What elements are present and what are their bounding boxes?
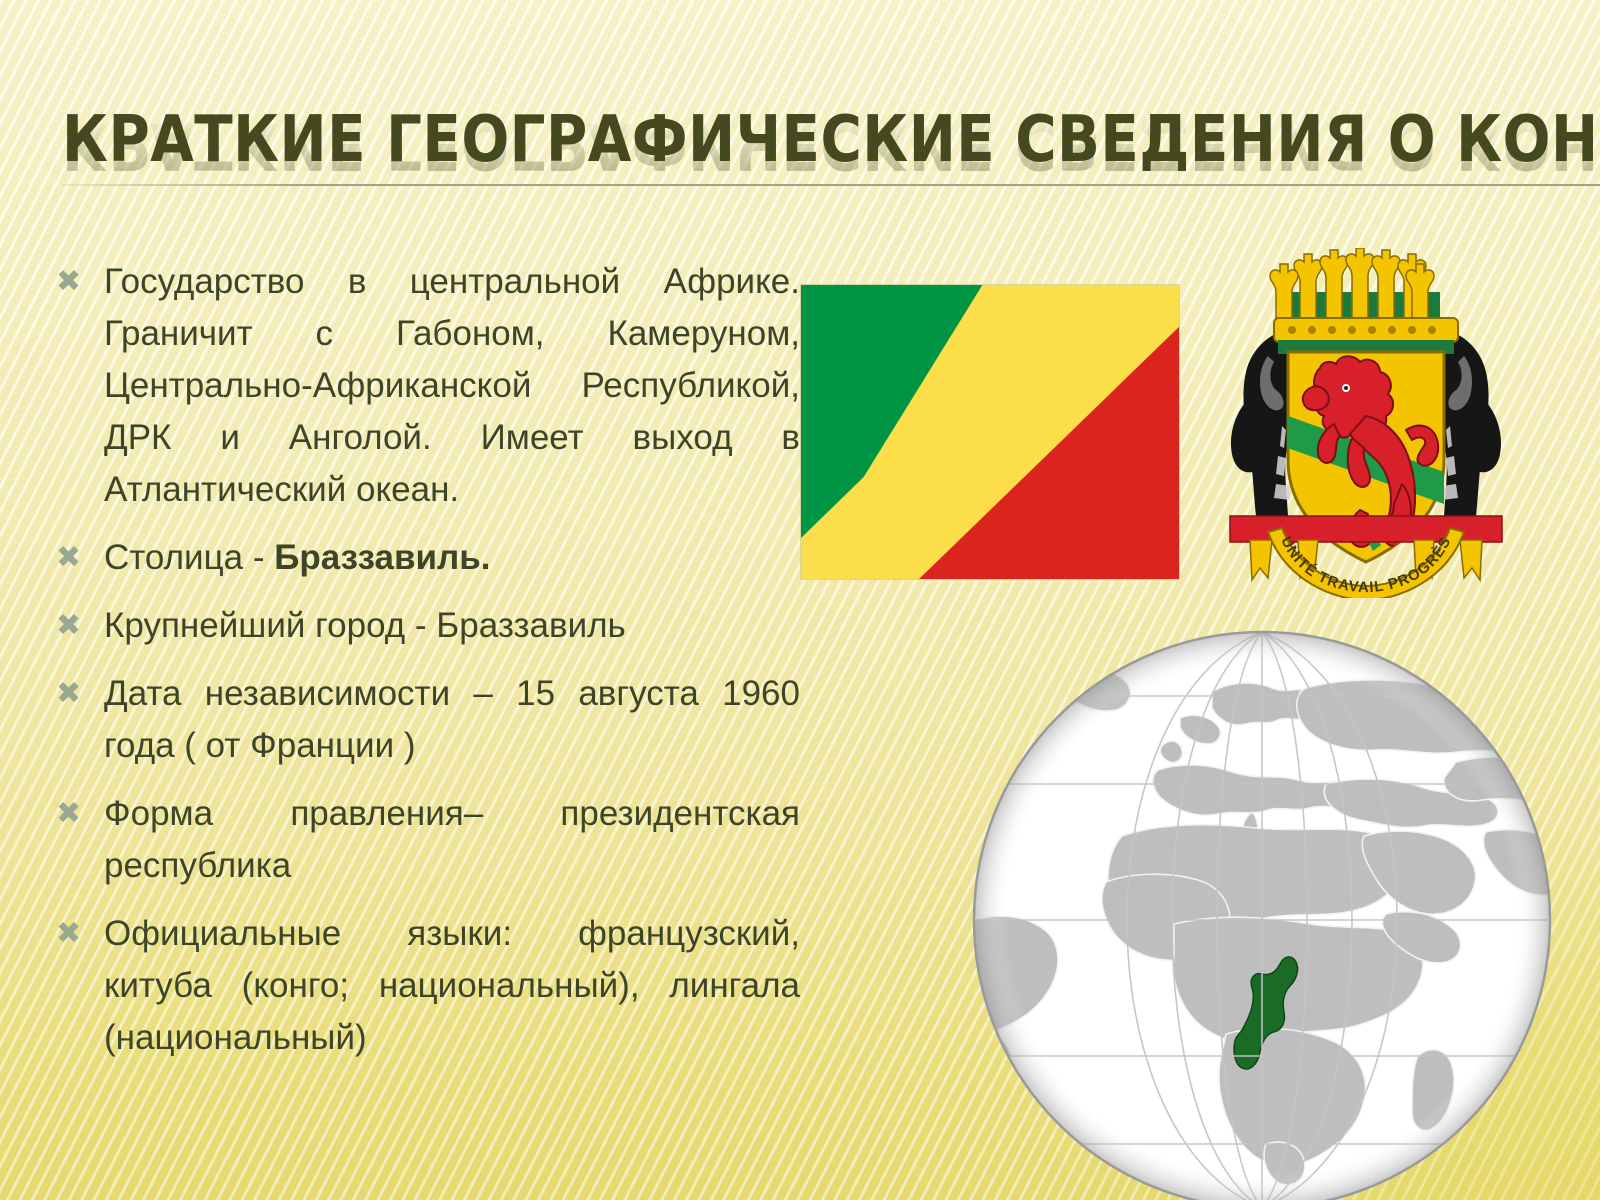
bullet-text-government: Форма правления– президентская республик… — [104, 788, 800, 892]
cross-bullet-icon: ✖ — [48, 668, 104, 720]
bullet-text-independence: Дата независимости – 15 августа 1960 год… — [104, 668, 800, 772]
list-item: ✖ Официальные языки: французский, китуба… — [48, 908, 800, 1064]
list-item: ✖ Государство в центральной Африке. Гран… — [48, 256, 800, 516]
bullet-text-capital: Столица - Браззавиль. — [104, 532, 800, 584]
bullet-text-largest-city: Крупнейший город - Браззавиль — [104, 600, 800, 652]
cross-bullet-icon: ✖ — [48, 256, 104, 308]
capital-label: Столица - — [104, 538, 274, 577]
congo-flag-image — [800, 284, 1180, 580]
crown-shape — [1270, 248, 1458, 354]
cross-bullet-icon: ✖ — [48, 532, 104, 584]
bullet-list: ✖ Государство в центральной Африке. Гран… — [48, 256, 800, 1080]
list-item: ✖ Форма правления– президентская республ… — [48, 788, 800, 892]
list-item: ✖ Крупнейший город - Браззавиль — [48, 600, 800, 652]
slide-title-area: Краткие географические сведения о Конго … — [0, 108, 1600, 258]
title-underline-rule — [62, 184, 1600, 186]
page-title: Краткие географические сведения о Конго — [62, 108, 1600, 172]
bullet-text-languages: Официальные языки: французский, китуба (… — [104, 908, 800, 1064]
cross-bullet-icon: ✖ — [48, 600, 104, 652]
cross-bullet-icon: ✖ — [48, 908, 104, 960]
list-item: ✖ Столица - Браззавиль. — [48, 532, 800, 584]
slide-congo-geography: Краткие географические сведения о Конго … — [0, 0, 1600, 1200]
congo-coat-of-arms-image: UNITÉ TRAVAIL PROGRÈS — [1216, 248, 1516, 598]
cross-bullet-icon: ✖ — [48, 788, 104, 840]
bullet-text-location: Государство в центральной Африке. Гранич… — [104, 256, 800, 516]
list-item: ✖ Дата независимости – 15 августа 1960 г… — [48, 668, 800, 772]
globe-locator-map — [966, 624, 1558, 1200]
capital-value: Браззавиль. — [274, 538, 490, 577]
